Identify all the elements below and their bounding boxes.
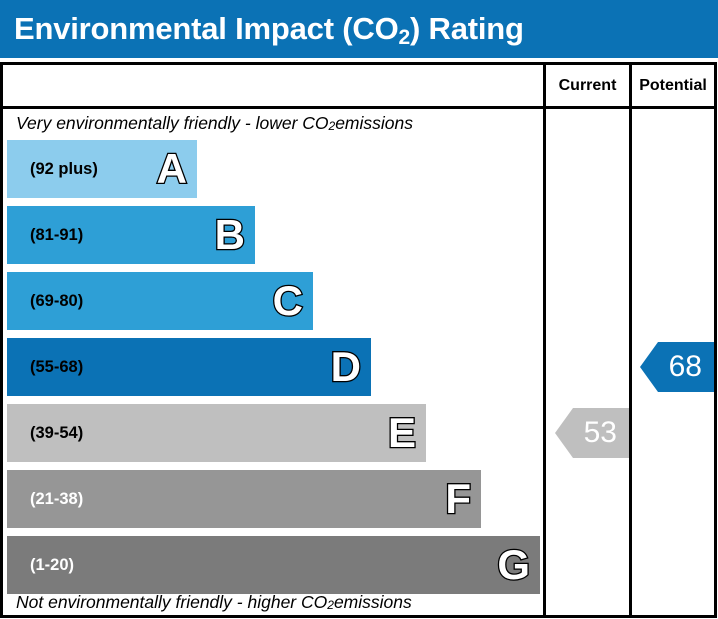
band-bar-c: (69-80)C bbox=[7, 272, 313, 330]
potential-rating-value: 68 bbox=[669, 350, 702, 384]
band-range-label: (69-80) bbox=[7, 292, 83, 311]
band-range-label: (92 plus) bbox=[7, 160, 98, 179]
current-rating-value: 53 bbox=[584, 416, 617, 450]
page-title: Environmental Impact (CO2) Rating bbox=[0, 11, 524, 47]
chart-title-bar: Environmental Impact (CO2) Rating bbox=[0, 0, 718, 58]
title-subscript: 2 bbox=[399, 26, 410, 49]
current-rating-arrow: 53 bbox=[555, 408, 629, 458]
caption-top-prefix: Very environmentally friendly - lower CO bbox=[16, 113, 329, 134]
band-letter-g: G bbox=[497, 544, 530, 586]
current-rating-cell: 53 bbox=[546, 404, 629, 462]
caption-bottom-subscript: 2 bbox=[327, 598, 334, 612]
band-range-label: (81-91) bbox=[7, 226, 83, 245]
band-letter-f: F bbox=[445, 478, 471, 520]
title-prefix: Environmental Impact (CO bbox=[14, 11, 399, 46]
caption-top-subscript: 2 bbox=[329, 119, 336, 133]
rating-table: Current Potential Very environmentally f… bbox=[0, 62, 717, 618]
caption-bottom: Not environmentally friendly - higher CO… bbox=[3, 585, 543, 619]
epc-environmental-impact-chart: Environmental Impact (CO2) Rating Curren… bbox=[0, 0, 718, 619]
caption-bottom-prefix: Not environmentally friendly - higher CO bbox=[16, 592, 327, 613]
band-range-label: (21-38) bbox=[7, 490, 83, 509]
title-suffix: ) Rating bbox=[410, 11, 524, 46]
band-range-label: (1-20) bbox=[7, 556, 74, 575]
band-letter-d: D bbox=[331, 346, 361, 388]
caption-top: Very environmentally friendly - lower CO… bbox=[3, 106, 543, 140]
band-bar-e: (39-54)E bbox=[7, 404, 426, 462]
band-letter-c: C bbox=[273, 280, 303, 322]
band-bar-b: (81-91)B bbox=[7, 206, 255, 264]
band-letter-a: A bbox=[157, 148, 187, 190]
caption-top-suffix: emissions bbox=[335, 113, 413, 134]
potential-rating-cell: 68 bbox=[632, 338, 714, 396]
band-range-label: (39-54) bbox=[7, 424, 83, 443]
band-bar-d: (55-68)D bbox=[7, 338, 371, 396]
band-bar-a: (92 plus)A bbox=[7, 140, 197, 198]
band-letter-e: E bbox=[388, 412, 416, 454]
band-letter-b: B bbox=[215, 214, 245, 256]
band-range-label: (55-68) bbox=[7, 358, 83, 377]
caption-bottom-suffix: emissions bbox=[334, 592, 412, 613]
band-column: Very environmentally friendly - lower CO… bbox=[3, 106, 543, 615]
column-header-potential: Potential bbox=[632, 65, 714, 106]
column-header-current: Current bbox=[546, 65, 629, 106]
band-bar-f: (21-38)F bbox=[7, 470, 481, 528]
current-column-divider bbox=[543, 65, 546, 615]
potential-rating-arrow: 68 bbox=[640, 342, 714, 392]
